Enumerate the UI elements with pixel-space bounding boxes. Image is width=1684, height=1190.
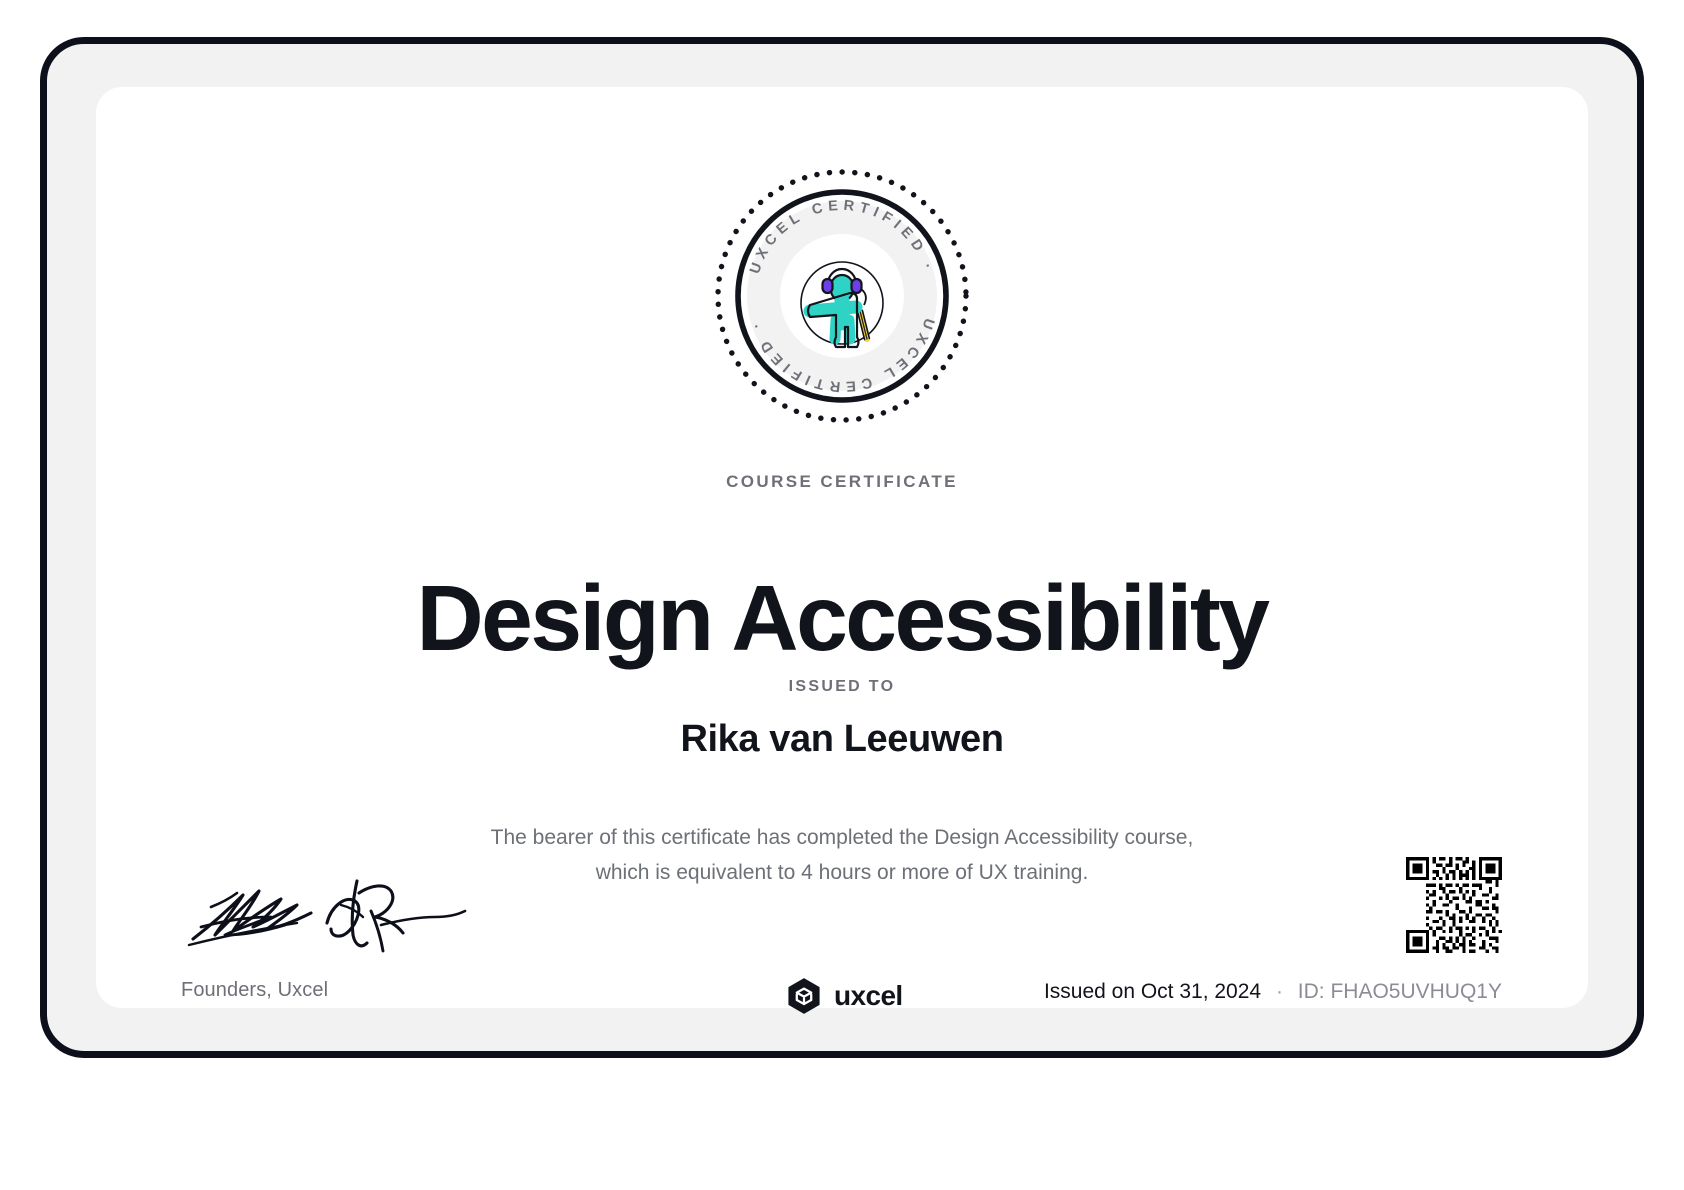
kicker-course-certificate: COURSE CERTIFICATE xyxy=(96,472,1588,492)
certificate-card: UXCEL CERTIFIED · UXCEL CERTIFIED · xyxy=(96,87,1588,1008)
certificate-id: ID: FHAO5UVHUQ1Y xyxy=(1298,980,1502,1003)
issue-separator: · xyxy=(1267,980,1292,1003)
uxcel-hexagon-icon xyxy=(785,977,823,1015)
uxcel-brand-logo: uxcel xyxy=(785,977,903,1015)
page-title: Design Accessibility xyxy=(96,563,1588,673)
signature-block: Founders, Uxcel xyxy=(181,877,511,1002)
issued-to-label: ISSUED TO xyxy=(96,678,1588,696)
uxcel-certified-badge: UXCEL CERTIFIED · UXCEL CERTIFIED · xyxy=(711,165,973,427)
signature-caption: Founders, Uxcel xyxy=(181,979,511,1002)
verification-qr-code[interactable] xyxy=(1406,857,1502,953)
uxcel-wordmark: uxcel xyxy=(834,980,903,1012)
recipient-name: Rika van Leeuwen xyxy=(96,715,1588,763)
issue-info: Issued on Oct 31, 2024 · ID: FHAO5UVHUQ1… xyxy=(1044,980,1502,1004)
description-line-2: which is equivalent to 4 hours or more o… xyxy=(596,861,1089,884)
issued-on-date: Issued on Oct 31, 2024 xyxy=(1044,980,1261,1003)
certificate-description: The bearer of this certificate has compl… xyxy=(412,820,1272,890)
description-line-1: The bearer of this certificate has compl… xyxy=(491,826,1194,849)
certificate-frame: UXCEL CERTIFIED · UXCEL CERTIFIED · xyxy=(40,37,1644,1058)
founders-signatures-image xyxy=(181,877,471,955)
